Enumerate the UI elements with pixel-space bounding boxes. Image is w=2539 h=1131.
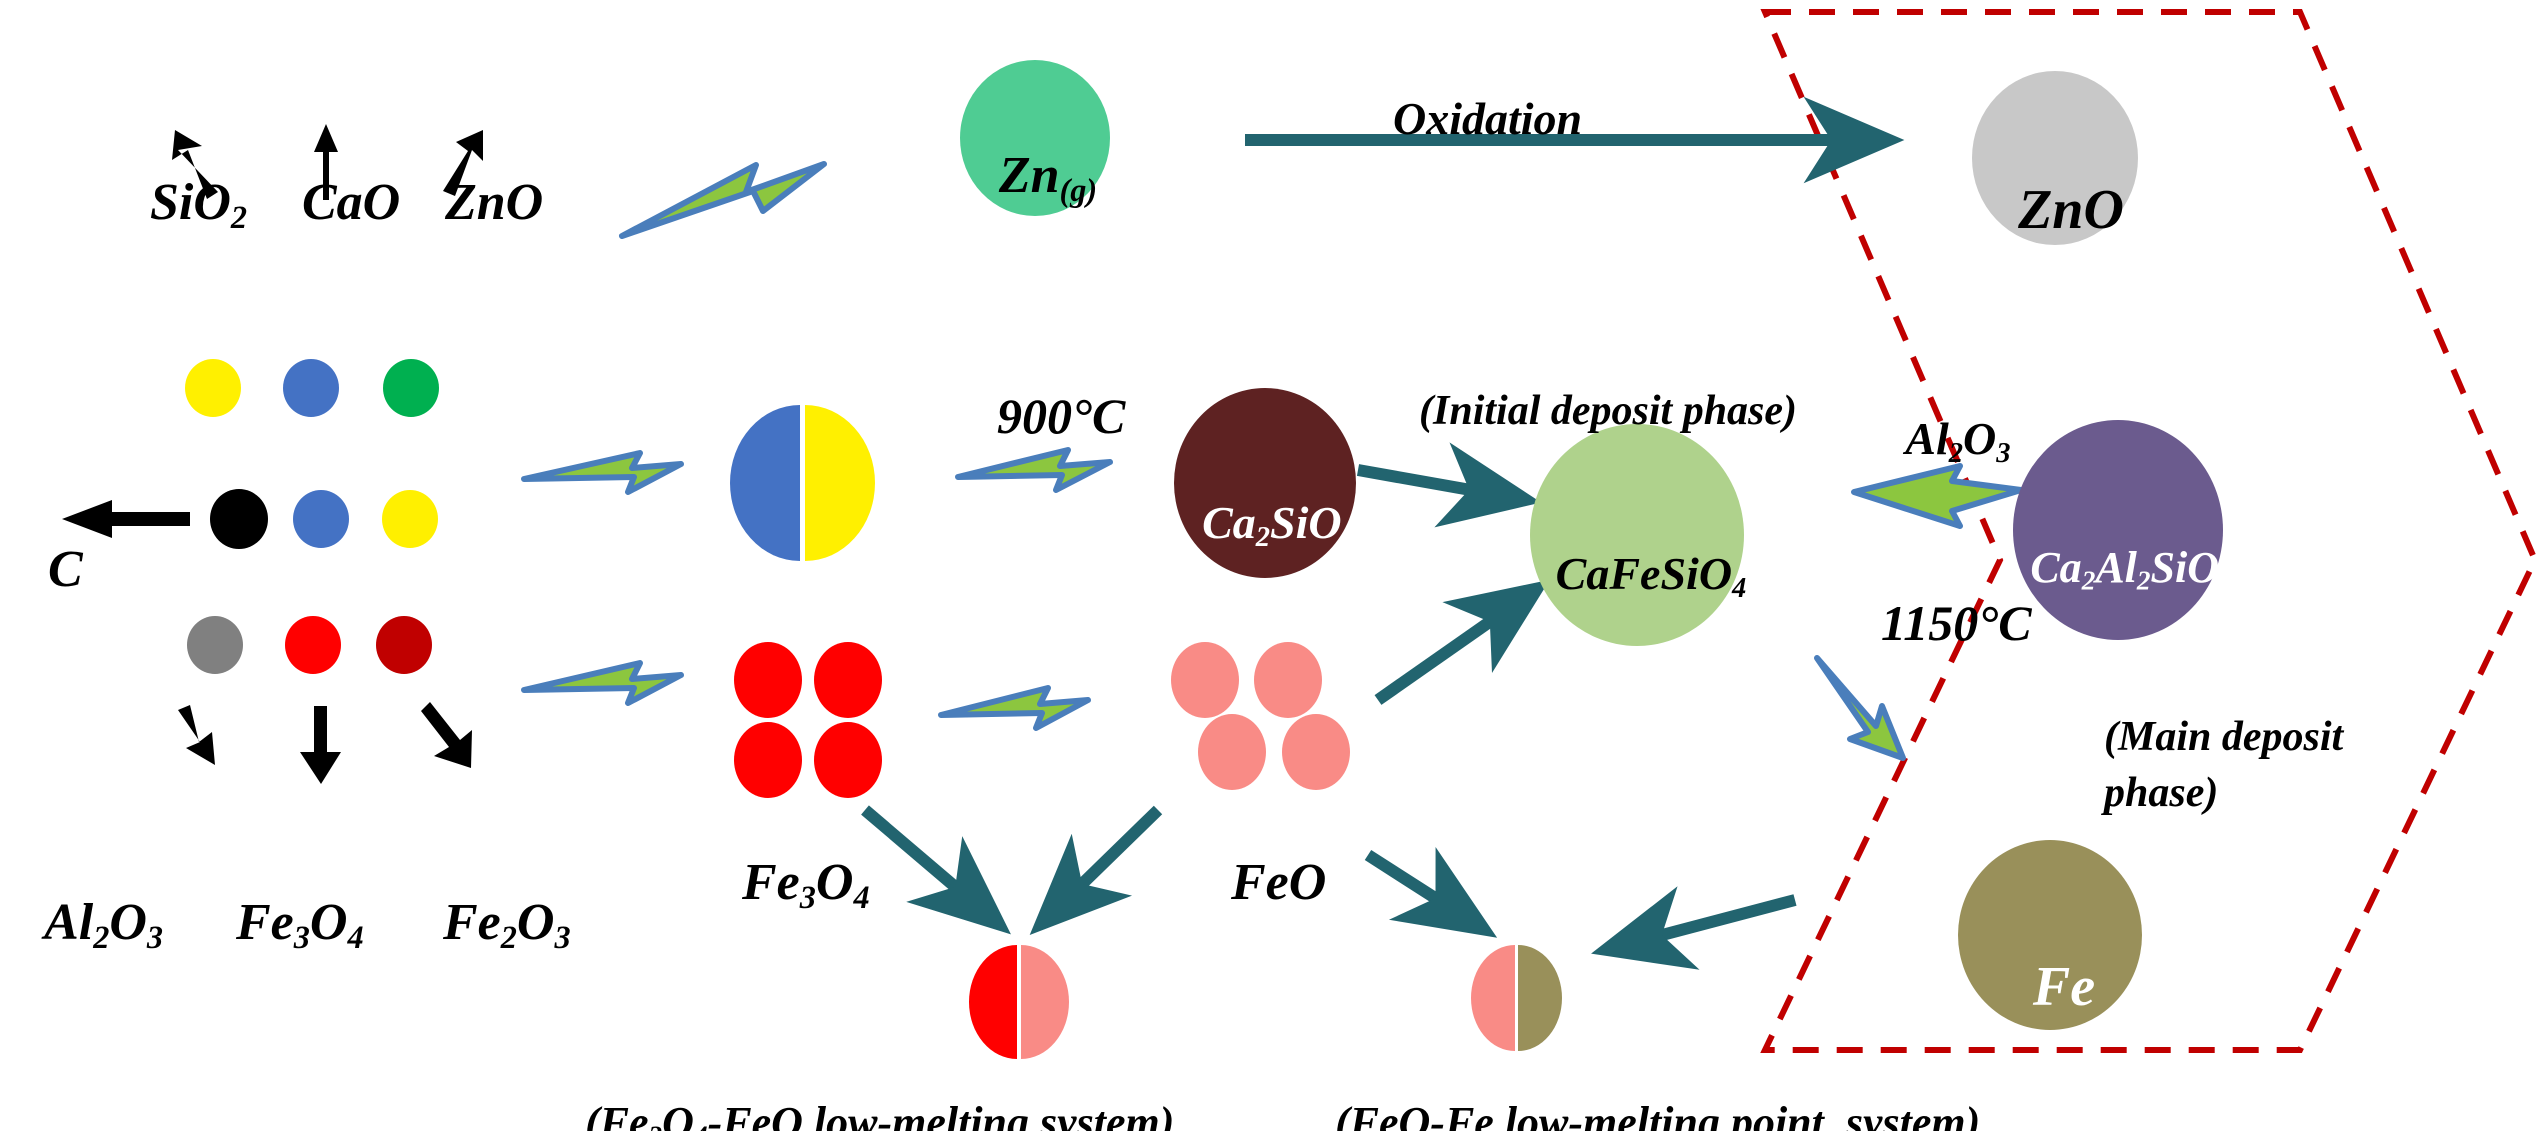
fe3o4-feo-split-circle	[969, 945, 1069, 1059]
fe3o4-dot-tl	[734, 642, 802, 718]
cao-sio2-split-circle	[730, 405, 875, 561]
caption-initial-deposit-phase: (Initial deposit phase)	[1398, 348, 1797, 432]
label-al2o3-feed: Al2O3	[20, 845, 163, 953]
node-zn-gas-label: Zn(g)	[960, 98, 1110, 206]
green-arrow-to-zn	[622, 164, 824, 236]
label-temp-1150c: 1150°C	[1856, 548, 2032, 648]
arrow-down-al2o3	[178, 705, 215, 765]
caption-fe3o4-feo-system: (Fe3O4-FeO low-melting system)	[563, 1057, 1174, 1131]
dot-blue-r2	[293, 490, 349, 548]
dot-green-r1	[383, 359, 439, 417]
arrow-down-fe3o4	[300, 706, 341, 784]
dot-gray-r3	[187, 616, 243, 674]
feo-dot-bl	[1198, 714, 1266, 790]
fe3o4-dot-bl	[734, 722, 802, 798]
label-zno-feed: ZnO	[419, 125, 543, 229]
fe3o4-cluster-dots	[734, 642, 882, 798]
dot-darkred-r3	[376, 616, 432, 674]
dot-yellow-r1	[185, 359, 241, 417]
label-al2o3-reagent: Al2O3	[1884, 370, 2011, 469]
green-arrow-900c	[958, 450, 1110, 490]
teal-arrow-feo-to-mix-left	[1040, 810, 1158, 925]
diagram-canvas: SiO2 CaO ZnO C Al2O3 Fe3O4 Fe2O3 Zn(g) Z…	[0, 0, 2539, 1131]
label-oxidation: Oxidation	[1370, 50, 1582, 142]
green-arrow-to-fe3o4	[524, 663, 681, 703]
label-sio2: SiO2	[124, 125, 247, 233]
dot-blue-r1	[283, 359, 339, 417]
label-fe2o3-feed: Fe2O3	[417, 845, 571, 953]
feo-dot-tr	[1254, 642, 1322, 718]
dot-black-r2	[210, 489, 268, 549]
feo-fe-split-circle	[1471, 945, 1562, 1051]
teal-arrow-feo-to-cafesio4	[1378, 588, 1538, 700]
feo-dot-br	[1282, 714, 1350, 790]
dot-yellow-r2	[382, 490, 438, 548]
node-cafesio4-label: CaFeSiO4	[1512, 505, 1767, 604]
label-fe3o4-feed: Fe3O4	[210, 845, 364, 953]
feo-cluster-dots	[1171, 642, 1350, 790]
teal-arrow-ca2sio4-to-cafesio4	[1358, 470, 1527, 500]
green-arrow-fe3o4-to-feo	[941, 688, 1088, 728]
arrow-down-fe2o3	[421, 702, 472, 768]
teal-arrow-fe3o4-to-mix	[865, 810, 1000, 925]
node-fe-metal-label: Fe	[1975, 903, 2125, 1015]
green-arrow-to-fe	[1817, 658, 1903, 758]
teal-arrow-fe-to-fefeo	[1605, 900, 1795, 950]
label-fe3o4-cluster: Fe3O4	[716, 805, 870, 913]
label-cao: CaO	[276, 125, 400, 229]
fe3o4-dot-tr	[814, 642, 882, 718]
label-carbon: C	[22, 492, 83, 596]
feo-dot-tl	[1171, 642, 1239, 718]
caption-main-deposit-phase-line2: phase)	[2083, 730, 2218, 814]
caption-feo-fe-system: (FeO-Fe low-melting point system)	[1313, 1057, 1980, 1131]
dot-red-r3	[285, 616, 341, 674]
green-arrow-to-ca-si	[524, 453, 681, 492]
node-ca2sio4-label: Ca2SiO4	[1160, 454, 1375, 553]
teal-arrow-feo-to-fefeo	[1368, 855, 1485, 930]
node-zno-product-label: ZnO	[1962, 126, 2152, 238]
black-arrows-bottom-group	[178, 702, 472, 784]
feedstock-dot-matrix	[185, 359, 439, 674]
label-temp-900c: 900°C	[972, 341, 1125, 441]
fe3o4-dot-br	[814, 722, 882, 798]
label-feo-cluster: FeO	[1205, 805, 1326, 909]
